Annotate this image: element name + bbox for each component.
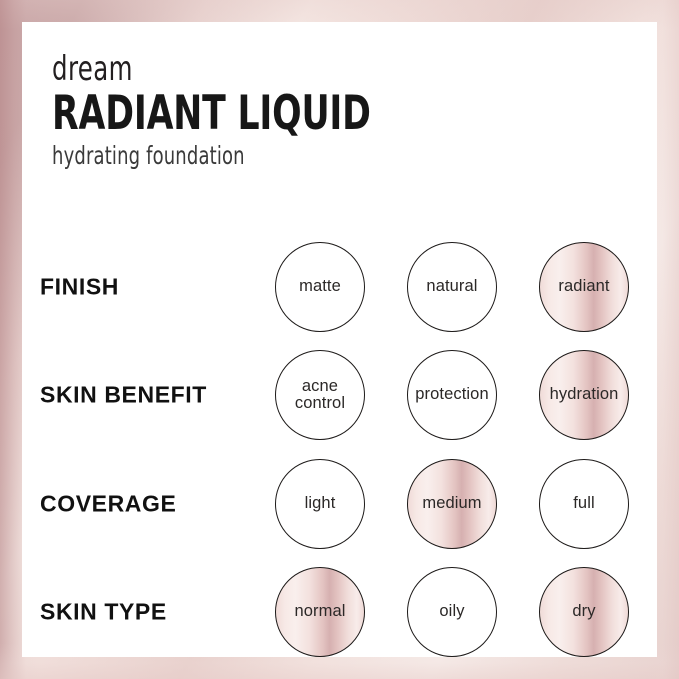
option-circle-selected[interactable]: radiant	[539, 242, 629, 332]
option-label: dry	[572, 603, 595, 620]
option-circle-selected[interactable]: normal	[275, 567, 365, 657]
option-label: medium	[422, 495, 481, 512]
option-circle-selected[interactable]: dry	[539, 567, 629, 657]
option-circle-selected[interactable]: medium	[407, 459, 497, 549]
option-label: protection	[415, 386, 488, 403]
attribute-row-label: COVERAGE	[40, 491, 176, 518]
option-circle[interactable]: oily	[407, 567, 497, 657]
option-circle[interactable]: acne control	[275, 350, 365, 440]
option-label: normal	[294, 603, 345, 620]
white-card: dream RADIANT LIQUID hydrating foundatio…	[22, 22, 657, 657]
attribute-row: COVERAGElightmediumfull	[22, 450, 657, 558]
attribute-row: SKIN TYPEnormaloilydry	[22, 558, 657, 666]
product-infographic: dream RADIANT LIQUID hydrating foundatio…	[0, 0, 679, 679]
attribute-row: SKIN BENEFITacne controlprotectionhydrat…	[22, 341, 657, 449]
option-circle[interactable]: protection	[407, 350, 497, 440]
option-label: radiant	[558, 278, 609, 295]
option-label: hydration	[550, 386, 619, 403]
option-label: light	[305, 495, 336, 512]
option-circle[interactable]: natural	[407, 242, 497, 332]
option-circle[interactable]: light	[275, 459, 365, 549]
option-circle[interactable]: full	[539, 459, 629, 549]
attribute-row-label: FINISH	[40, 274, 119, 301]
attribute-row: FINISHmattenaturalradiant	[22, 233, 657, 341]
option-label: matte	[299, 278, 341, 295]
attribute-row-label: SKIN TYPE	[40, 599, 167, 626]
option-label: oily	[439, 603, 464, 620]
option-circle[interactable]: matte	[275, 242, 365, 332]
option-label: natural	[426, 278, 477, 295]
option-label: full	[573, 495, 595, 512]
option-label: acne control	[295, 378, 345, 413]
attribute-row-label: SKIN BENEFIT	[40, 382, 207, 409]
attribute-grid: FINISHmattenaturalradiantSKIN BENEFITacn…	[22, 22, 657, 657]
option-circle-selected[interactable]: hydration	[539, 350, 629, 440]
